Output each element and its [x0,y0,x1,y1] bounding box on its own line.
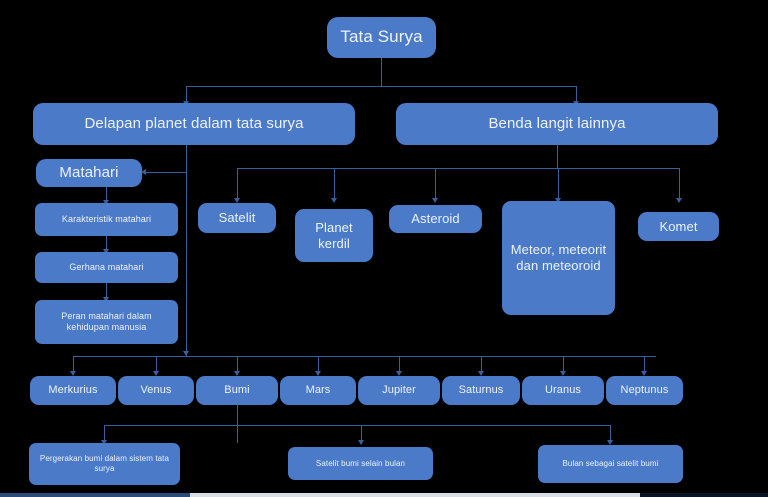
node-pergerakan-bumi-dalam-sistem-tata-surya[interactable]: Pergerakan bumi dalam sistem tata surya [29,443,180,485]
node-benda-langit-lainnya[interactable]: Benda langit lainnya [396,103,718,145]
edge-to-satelit [237,168,238,201]
node-peran-matahari-dalam-kehidupan-manusia[interactable]: Peran matahari dalam kehidupan manusia [35,300,178,344]
edge-root-split [186,86,576,87]
node-komet[interactable]: Komet [638,212,719,241]
node-meteor-meteorit-dan-meteoroid[interactable]: Meteor, meteorit dan meteoroid [502,201,615,315]
node-uranus[interactable]: Uranus [522,376,604,405]
arrow-to-planet-kerdil [331,198,337,203]
node-asteroid[interactable]: Asteroid [389,205,482,233]
edge-planets-spine [186,144,187,356]
edge-celestial-stem [557,144,558,168]
node-venus[interactable]: Venus [118,376,194,405]
node-satelit-bumi-selain-bulan[interactable]: Satelit bumi selain bulan [288,447,433,480]
bottom-strip-segment-left [0,493,190,497]
node-planet-kerdil[interactable]: Planet kerdil [295,209,373,262]
bottom-strip-segment-right [640,493,768,497]
edge-to-matahari [146,172,186,173]
bottom-edge-strip [0,493,768,497]
mindmap-canvas: Tata Surya Delapan planet dalam tata sur… [0,0,768,497]
node-tata-surya[interactable]: Tata Surya [327,17,436,58]
edge-to-planet-kerdil [334,168,335,201]
node-saturnus[interactable]: Saturnus [442,376,520,405]
node-matahari[interactable]: Matahari [36,159,142,187]
bottom-strip-segment-mid [190,493,640,497]
node-mars[interactable]: Mars [280,376,356,405]
arrow-to-satelit-bumi [358,440,364,445]
arrow-to-asteroid [432,198,438,203]
edge-to-meteor [558,168,559,201]
edge-bumi-stem [237,405,238,443]
edge-planets-bar [73,356,656,357]
node-delapan-planet-dalam-tata-surya[interactable]: Delapan planet dalam tata surya [33,103,355,145]
node-jupiter[interactable]: Jupiter [358,376,440,405]
arrow-planets-spine [183,351,189,356]
node-satelit[interactable]: Satelit [198,203,276,233]
edge-root-stem [381,57,382,86]
edge-bumi-bar [104,425,610,426]
arrow-to-komet [676,198,682,203]
node-bulan-sebagai-satelit-bumi[interactable]: Bulan sebagai satelit bumi [538,445,683,483]
node-bumi[interactable]: Bumi [196,376,278,405]
edge-to-komet [679,168,680,201]
edge-celestial-split [237,168,680,169]
node-gerhana-matahari[interactable]: Gerhana matahari [35,252,178,283]
node-neptunus[interactable]: Neptunus [606,376,683,405]
node-merkurius[interactable]: Merkurius [30,376,116,405]
node-karakteristik-matahari[interactable]: Karakteristik matahari [35,203,178,236]
edge-to-asteroid [435,168,436,201]
